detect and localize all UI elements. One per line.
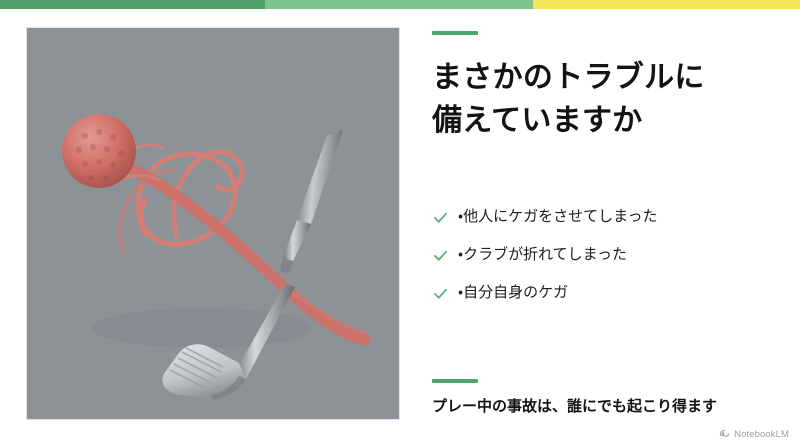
title-accent-rule <box>432 31 478 35</box>
page-title-line-2: 備えていますか <box>432 100 762 143</box>
golf-illustration-graphic <box>27 28 399 419</box>
notebooklm-watermark-label: NotebookLM <box>734 429 789 440</box>
content-column: まさかのトラブルに 備えていますか ・他人にケガをさせてしまった ・クラブが折れ… <box>432 0 772 447</box>
notebooklm-logo-icon <box>719 429 730 440</box>
page-title: まさかのトラブルに 備えていますか <box>432 57 762 142</box>
list-item-label: ・他人にケガをさせてしまった <box>458 208 658 226</box>
notebooklm-watermark: NotebookLM <box>719 429 789 440</box>
golf-illustration <box>27 28 399 419</box>
footer-note: プレー中の事故は、誰にでも起こり得ます <box>432 395 772 416</box>
list-item-label: ・自分自身のケガ <box>458 284 568 302</box>
slide: まさかのトラブルに 備えていますか ・他人にケガをさせてしまった ・クラブが折れ… <box>0 0 800 447</box>
topbar-segment-dark-green <box>0 0 265 9</box>
page-title-line-1: まさかのトラブルに <box>432 57 762 100</box>
check-icon <box>432 209 449 226</box>
list-item-label: ・クラブが折れてしまった <box>458 246 627 264</box>
bullet-list: ・他人にケガをさせてしまった ・クラブが折れてしまった ・自分自身のケガ <box>432 198 772 312</box>
list-item: ・他人にケガをさせてしまった <box>432 198 772 236</box>
footer-accent-rule <box>432 379 478 383</box>
list-item: ・自分自身のケガ <box>432 274 772 312</box>
check-icon <box>432 285 449 302</box>
list-item: ・クラブが折れてしまった <box>432 236 772 274</box>
check-icon <box>432 247 449 264</box>
